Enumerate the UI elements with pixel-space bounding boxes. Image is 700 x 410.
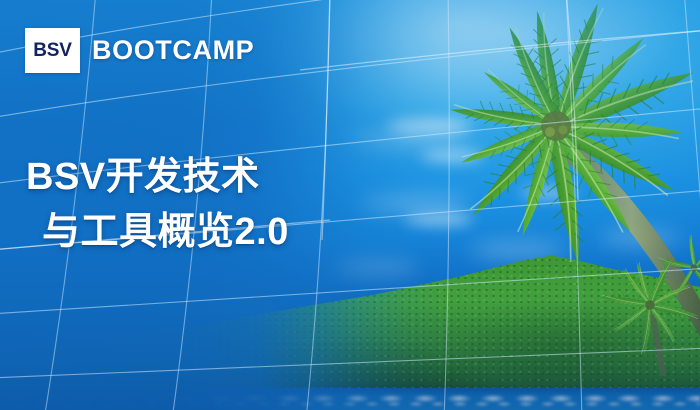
promo-banner: BSV BOOTCAMP BSV开发技术 与工具概览2.0: [0, 0, 700, 410]
bsv-logo-badge: BSV: [25, 28, 80, 73]
headline-line-1: BSV开发技术: [26, 156, 260, 198]
bsv-logo-text: BSV: [33, 41, 71, 60]
headline: BSV开发技术 与工具概览2.0: [26, 150, 289, 260]
headline-line-2: 与工具概览2.0: [26, 205, 289, 260]
bootcamp-wordmark: BOOTCAMP: [92, 37, 254, 64]
logo-lockup[interactable]: BSV BOOTCAMP: [25, 28, 254, 73]
banner-content: BSV BOOTCAMP BSV开发技术 与工具概览2.0: [0, 0, 700, 410]
